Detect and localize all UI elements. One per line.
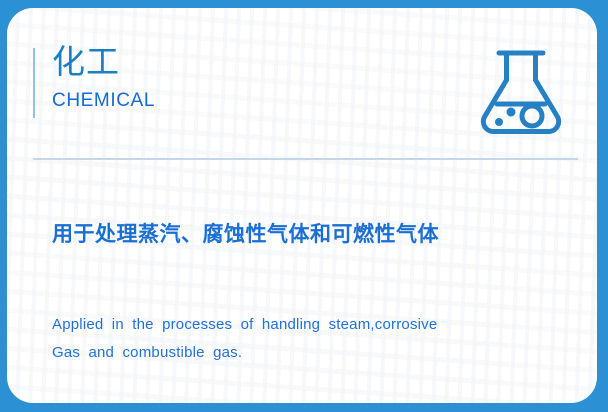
headline-chinese: 用于处理蒸汽、腐蚀性气体和可燃性气体 — [52, 220, 439, 250]
chemical-info-card-frame: 化工 CHEMICAL — [0, 0, 608, 412]
title-accent-bar — [33, 48, 35, 118]
title-block: 化工 CHEMICAL — [52, 42, 155, 112]
card-header: 化工 CHEMICAL — [7, 8, 597, 159]
header-divider — [33, 158, 578, 160]
description-line-2: Gas and combustible gas. — [52, 339, 552, 367]
description-english: Applied in the processes of handling ste… — [52, 311, 552, 367]
flask-icon — [477, 46, 565, 140]
page-title-english: CHEMICAL — [52, 90, 155, 112]
page-title-chinese: 化工 — [52, 42, 155, 82]
chemical-info-card: 化工 CHEMICAL — [7, 8, 597, 403]
description-line-1: Applied in the processes of handling ste… — [52, 311, 552, 339]
